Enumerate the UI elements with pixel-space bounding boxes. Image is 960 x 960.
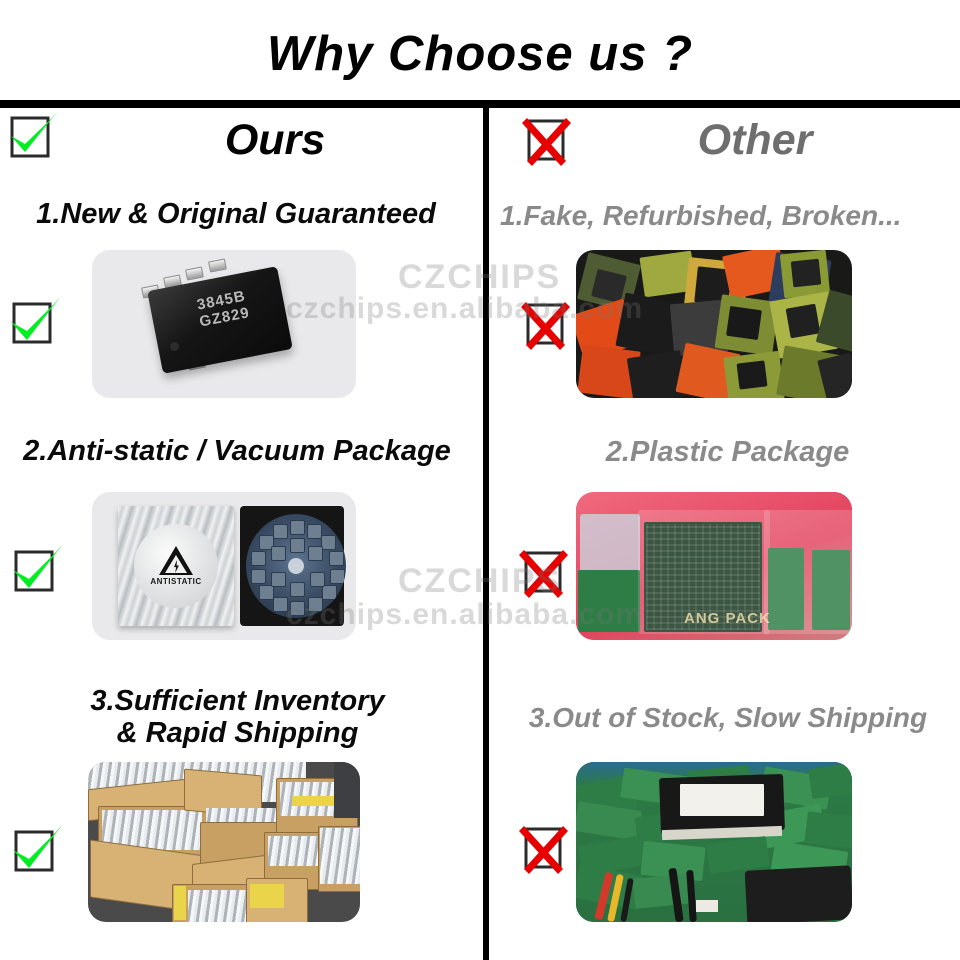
green-check-icon [4, 292, 62, 348]
page-title: Why Choose us ? [0, 26, 960, 82]
esd-warning-icon [159, 546, 193, 575]
red-cross-icon [516, 296, 574, 352]
ours-row-3-label-line1: 3.Sufficient Inventory [10, 685, 465, 717]
red-cross-icon [514, 820, 572, 876]
why-choose-us-infographic: Why Choose us ? Ours Other 1.New & Origi… [0, 0, 960, 960]
ours-row-3-label: 3.Sufficient Inventory & Rapid Shipping [10, 685, 465, 750]
green-check-icon [2, 108, 60, 164]
header-divider [0, 100, 960, 108]
warehouse-boxes-photo [88, 762, 360, 922]
red-cross-icon [514, 544, 572, 600]
column-heading-other: Other [560, 112, 950, 168]
ours-row-1-label: 1.New & Original Guaranteed [6, 198, 466, 230]
other-row-1-label: 1.Fake, Refurbished, Broken... [500, 200, 958, 231]
antistatic-text: ANTISTATIC [150, 577, 201, 586]
plastic-package-photo: ANG PACK [576, 492, 852, 640]
antistatic-label-disc: ANTISTATIC [134, 524, 218, 608]
tape-reel [246, 514, 346, 618]
other-row-2-label: 2.Plastic Package [500, 436, 955, 468]
antistatic-package-photo: ANTISTATIC [92, 492, 356, 640]
ours-row-3-label-line2: & Rapid Shipping [10, 717, 465, 749]
component-tray [240, 506, 344, 626]
column-divider [483, 105, 489, 960]
ic-chip-photo: 3845B GZ829 [92, 250, 356, 398]
watermark-brand: CZCHIPS [398, 258, 561, 297]
column-heading-ours: Ours [80, 112, 470, 168]
green-check-icon [6, 820, 64, 876]
other-row-3-label: 3.Out of Stock, Slow Shipping [498, 702, 958, 733]
scrap-pcb-heap-photo [576, 762, 852, 922]
ours-row-2-label: 2.Anti-static / Vacuum Package [2, 435, 472, 467]
green-check-icon [6, 540, 64, 596]
scrap-chip-pile-photo [576, 250, 852, 398]
antistatic-bag: ANTISTATIC [118, 506, 234, 626]
